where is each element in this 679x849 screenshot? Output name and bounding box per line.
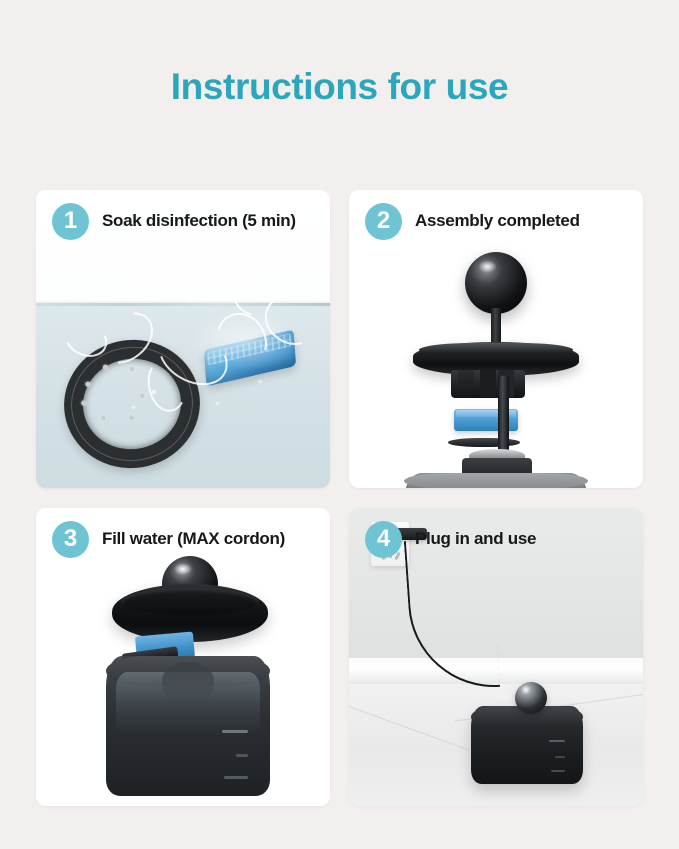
steps-grid: 1 Soak disinfection (5 min) 2 xyxy=(36,190,643,806)
pump-housing xyxy=(451,370,525,398)
filter-bracket-plate xyxy=(448,438,520,447)
center-shaft xyxy=(498,376,509,456)
step-card-1: 1 Soak disinfection (5 min) xyxy=(36,190,330,488)
min-level-marking xyxy=(224,776,248,779)
unit-marking-top xyxy=(549,740,565,742)
step-number-badge-1: 1 xyxy=(52,203,89,240)
unit-marking-bottom xyxy=(551,770,565,772)
gray-tank-base xyxy=(404,473,588,488)
instructions-page: Instructions for use xyxy=(0,0,679,849)
step-card-2: 2 Assembly completed xyxy=(349,190,643,488)
step-1-header: 1 Soak disinfection (5 min) xyxy=(36,190,330,252)
water-tank xyxy=(106,656,270,796)
pet-fountain-unit xyxy=(471,706,583,784)
ball-stem xyxy=(491,308,501,346)
step-label-1: Soak disinfection (5 min) xyxy=(102,211,296,231)
step-number-badge-3: 3 xyxy=(52,521,89,558)
step-card-4: 4 Plug in and use xyxy=(349,508,643,806)
step-number-badge-4: 4 xyxy=(365,521,402,558)
page-title: Instructions for use xyxy=(0,64,679,110)
pump-cone xyxy=(162,662,214,708)
step-2-header: 2 Assembly completed xyxy=(349,190,643,252)
unit-marking-mid xyxy=(555,756,565,758)
water-ball-flowing xyxy=(515,682,547,714)
step-4-header: 4 Plug in and use xyxy=(349,508,643,570)
step-number-badge-2: 2 xyxy=(365,203,402,240)
step-label-3: Fill water (MAX cordon) xyxy=(102,529,285,549)
fountain-ball-top xyxy=(465,252,527,314)
mid-level-marking xyxy=(236,754,248,757)
step-3-header: 3 Fill water (MAX cordon) xyxy=(36,508,330,570)
step-card-3: 3 Fill water (MAX cordon) xyxy=(36,508,330,806)
max-level-marking xyxy=(222,730,248,733)
step-label-4: Plug in and use xyxy=(415,529,536,549)
step-label-2: Assembly completed xyxy=(415,211,580,231)
